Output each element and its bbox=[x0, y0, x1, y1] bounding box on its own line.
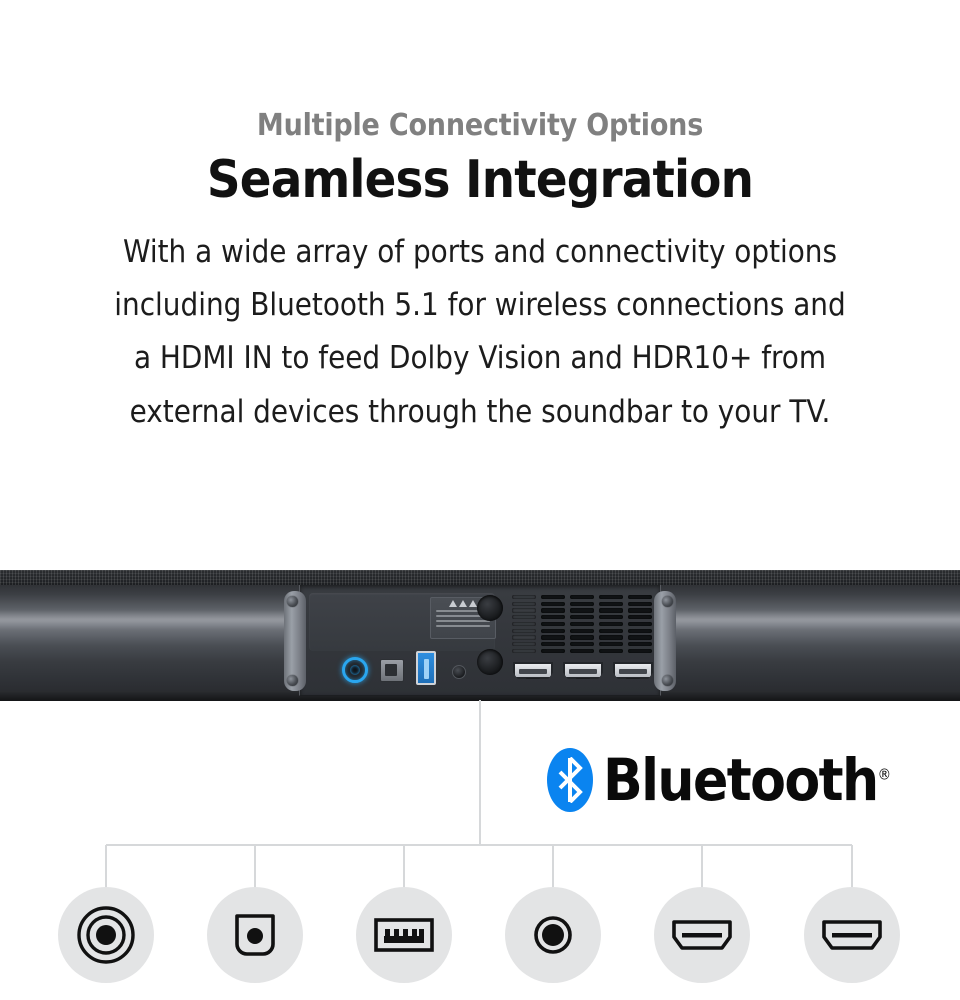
vent-column bbox=[512, 595, 536, 653]
soundbar-product-image bbox=[0, 570, 960, 701]
screw-icon bbox=[662, 596, 673, 607]
hdmi-port bbox=[563, 662, 603, 679]
bluetooth-wordmark: Bluetooth® bbox=[603, 751, 891, 809]
mount-bracket-left bbox=[284, 591, 306, 691]
label-text-line bbox=[436, 625, 490, 627]
hdmi-port-icon-2[interactable] bbox=[804, 887, 900, 983]
bluetooth-logo: Bluetooth® bbox=[547, 748, 891, 812]
ethernet-port bbox=[380, 659, 404, 682]
hdmi-port bbox=[613, 662, 653, 679]
warning-triangle-icon bbox=[449, 600, 457, 607]
registered-trademark-symbol: ® bbox=[878, 766, 892, 784]
vent-column bbox=[570, 595, 594, 653]
vent-column bbox=[628, 595, 652, 653]
bluetooth-word-text: Bluetooth bbox=[603, 746, 878, 814]
coaxial-port-icon[interactable] bbox=[58, 887, 154, 983]
hero-text-block: Multiple Connectivity Options Seamless I… bbox=[0, 0, 960, 439]
vent-column bbox=[599, 595, 623, 653]
soundbar-grille-mesh bbox=[0, 570, 960, 586]
service-hole bbox=[452, 665, 466, 679]
page-title: Seamless Integration bbox=[0, 151, 960, 209]
body-paragraph: With a wide array of ports and connectiv… bbox=[105, 226, 855, 439]
usb-port bbox=[416, 651, 436, 685]
hdmi-port-group bbox=[513, 662, 653, 679]
warning-triangle-icon bbox=[459, 600, 467, 607]
eyebrow-text: Multiple Connectivity Options bbox=[0, 108, 960, 143]
soundbar-port-panel bbox=[299, 585, 661, 696]
ventilation-grid bbox=[512, 595, 652, 653]
mount-hole-lower bbox=[477, 649, 503, 675]
hdmi-port-icon-1[interactable] bbox=[654, 887, 750, 983]
warning-triangle-icon bbox=[469, 600, 477, 607]
hdmi-port bbox=[513, 662, 553, 679]
product-feature-page: Multiple Connectivity Options Seamless I… bbox=[0, 0, 960, 1000]
optical-in-port bbox=[342, 657, 368, 683]
mount-bracket-right bbox=[654, 591, 676, 691]
aux-port-icon[interactable] bbox=[505, 887, 601, 983]
vent-column bbox=[541, 595, 565, 653]
mount-hole-upper bbox=[477, 595, 503, 621]
label-text-line bbox=[436, 620, 490, 622]
connectivity-icon-row bbox=[0, 887, 960, 1000]
screw-icon bbox=[662, 675, 673, 686]
usb-port-icon[interactable] bbox=[356, 887, 452, 983]
optical-port-icon[interactable] bbox=[207, 887, 303, 983]
bluetooth-rune-icon bbox=[547, 748, 593, 812]
screw-icon bbox=[287, 675, 298, 686]
screw-icon bbox=[287, 596, 298, 607]
